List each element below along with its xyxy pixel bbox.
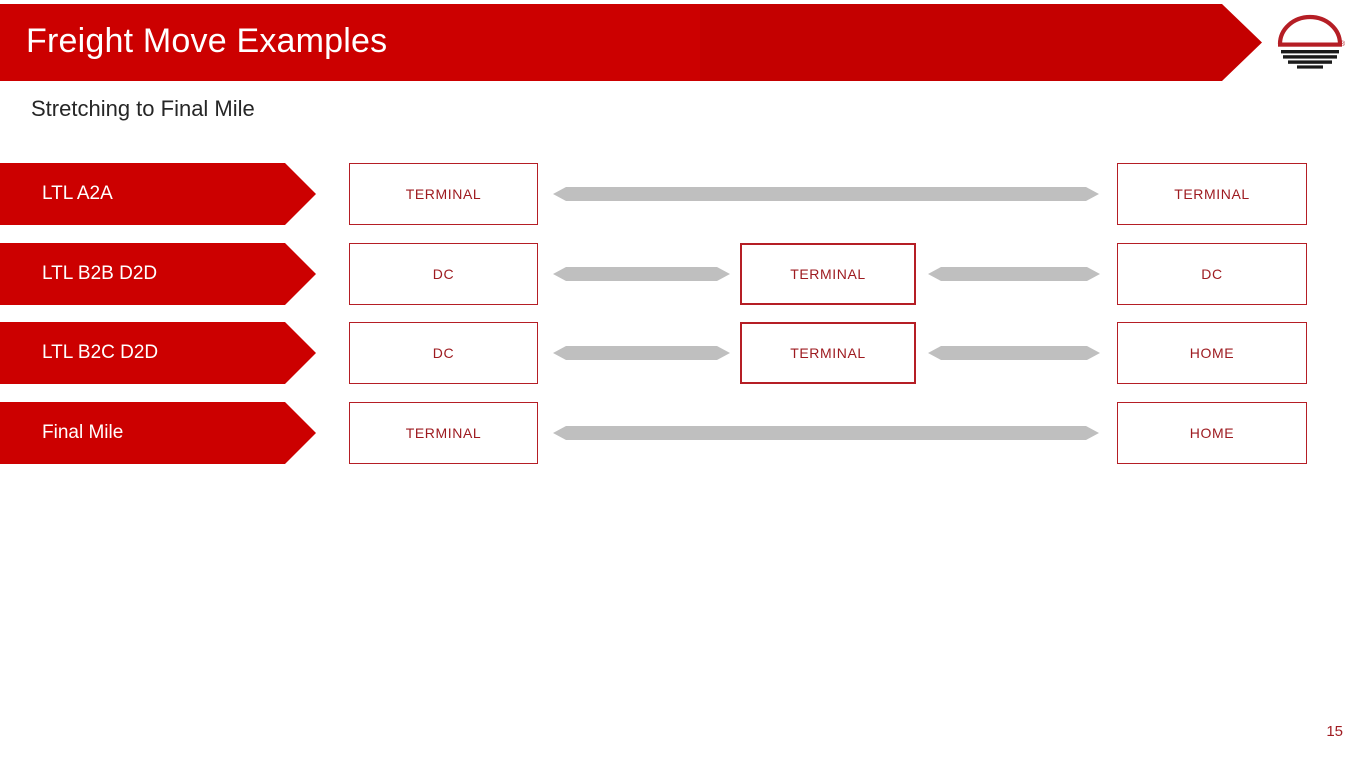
company-logo: ® (1274, 12, 1346, 70)
row-label-text: Final Mile (42, 402, 123, 464)
header-banner: Freight Move Examples (0, 4, 1262, 81)
node-box[interactable]: DC (349, 322, 538, 384)
banner-shape-right (700, 4, 1262, 81)
logo-arch-icon (1280, 17, 1340, 44)
diagram-row: LTL A2ATERMINALTERMINAL (0, 163, 1365, 225)
registered-mark: ® (1340, 40, 1346, 48)
logo-stripe-1-icon (1281, 50, 1339, 53)
connector-shape (553, 187, 1099, 201)
row-label-text: LTL A2A (42, 163, 113, 225)
diagram-row: LTL B2B D2DDCTERMINALDC (0, 243, 1365, 305)
connector-double-arrow-icon (553, 322, 730, 384)
connector-double-arrow-icon (553, 243, 730, 305)
node-box[interactable]: TERMINAL (349, 163, 538, 225)
row-label-arrow[interactable]: LTL B2B D2D (0, 243, 316, 305)
connector-shape (553, 426, 1099, 440)
row-label-arrow[interactable]: LTL A2A (0, 163, 316, 225)
page-title: Freight Move Examples (26, 22, 387, 61)
node-box[interactable]: TERMINAL (740, 243, 916, 305)
connector-shape (928, 267, 1100, 281)
connector-shape (553, 267, 730, 281)
logo-stripe-3-icon (1288, 60, 1332, 63)
node-box[interactable]: HOME (1117, 322, 1307, 384)
node-box[interactable]: DC (1117, 243, 1307, 305)
connector-shape (553, 346, 730, 360)
node-box[interactable]: DC (349, 243, 538, 305)
logo-stripe-2-icon (1283, 55, 1337, 58)
connector-shape (928, 346, 1100, 360)
connector-double-arrow-icon (553, 163, 1099, 225)
node-box[interactable]: TERMINAL (1117, 163, 1307, 225)
diagram-row: LTL B2C D2DDCTERMINALHOME (0, 322, 1365, 384)
row-label-arrow[interactable]: Final Mile (0, 402, 316, 464)
row-label-arrow[interactable]: LTL B2C D2D (0, 322, 316, 384)
node-box[interactable]: TERMINAL (349, 402, 538, 464)
page-number: 15 (1326, 723, 1343, 740)
row-label-text: LTL B2C D2D (42, 322, 158, 384)
node-box[interactable]: HOME (1117, 402, 1307, 464)
connector-double-arrow-icon (928, 243, 1100, 305)
slide-subtitle: Stretching to Final Mile (31, 96, 255, 122)
row-label-text: LTL B2B D2D (42, 243, 157, 305)
slide-canvas: Freight Move Examples ® Stretching to Fi… (0, 0, 1365, 768)
logo-stripe-4-icon (1297, 65, 1323, 68)
diagram-row: Final MileTERMINALHOME (0, 402, 1365, 464)
node-box[interactable]: TERMINAL (740, 322, 916, 384)
logo-baseline-icon (1278, 43, 1342, 47)
connector-double-arrow-icon (553, 402, 1099, 464)
connector-double-arrow-icon (928, 322, 1100, 384)
